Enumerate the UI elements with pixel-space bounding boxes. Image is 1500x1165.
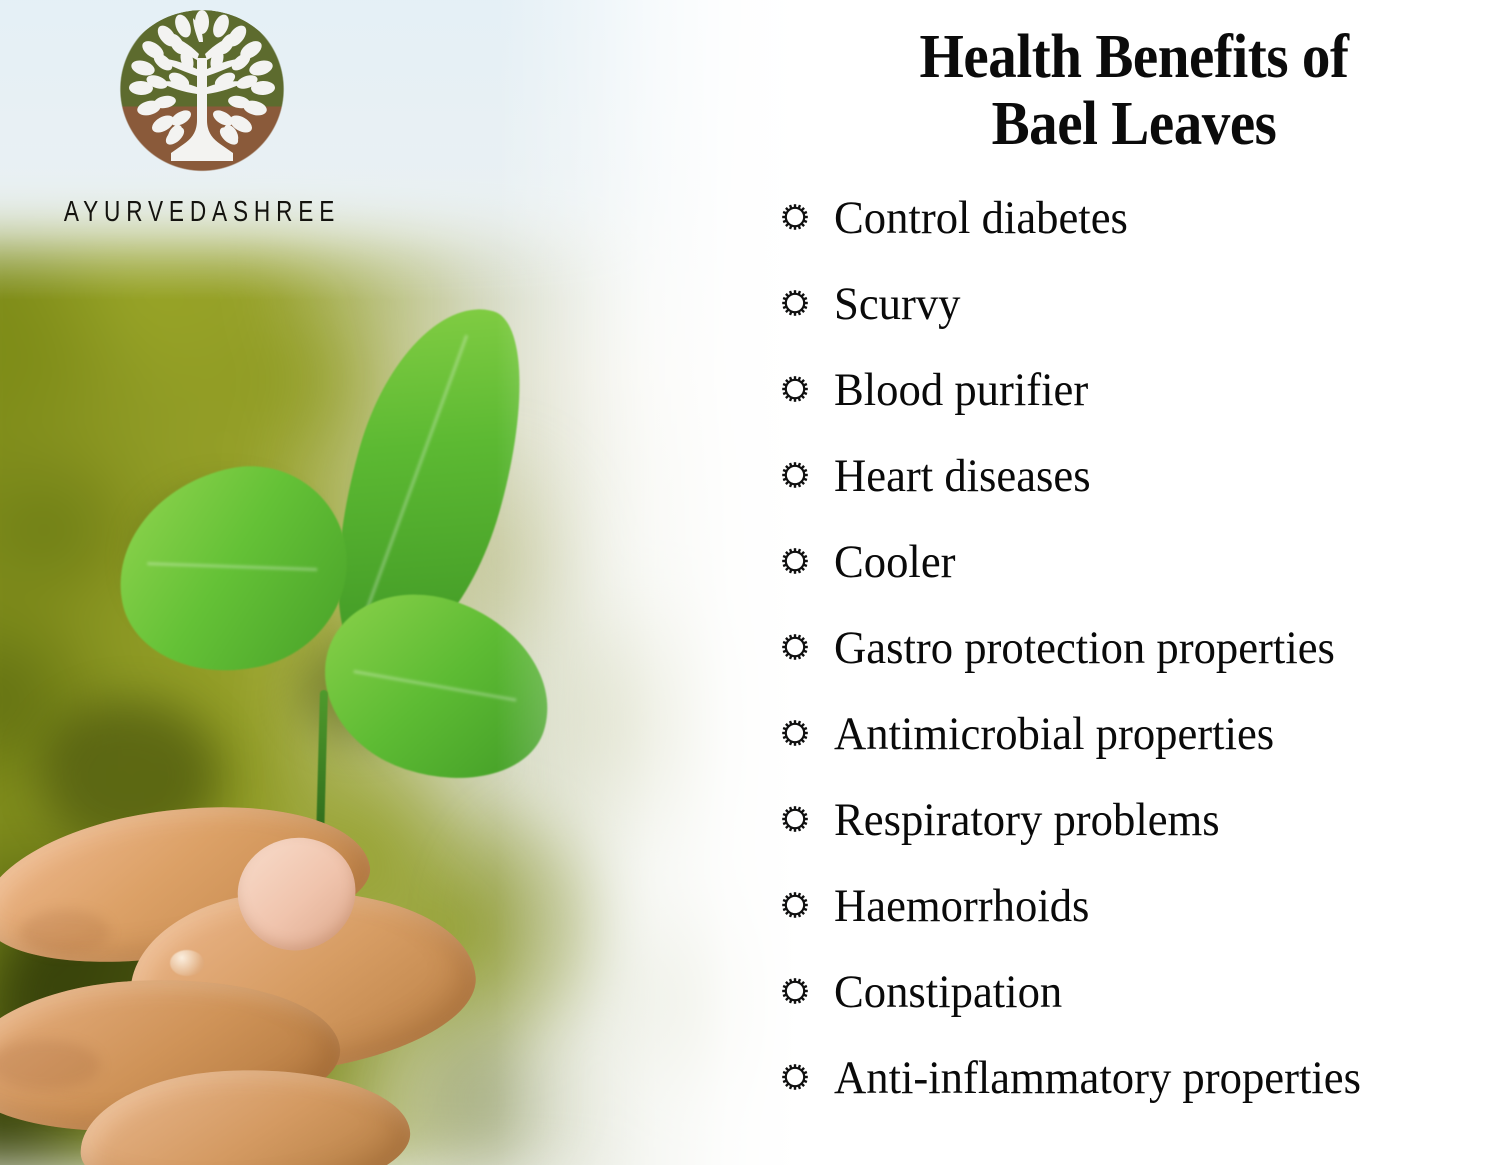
list-item-label: Gastro protection properties (834, 625, 1335, 672)
sun-circle-bullet-icon (778, 802, 812, 836)
list-item-label: Constipation (834, 969, 1062, 1016)
sun-circle-bullet-icon (778, 1060, 812, 1094)
sun-circle-bullet-icon (778, 458, 812, 492)
tree-logo-icon (113, 10, 291, 182)
list-item-label: Scurvy (834, 281, 960, 328)
benefit-item-3[interactable]: Heart diseases (778, 434, 1500, 520)
hand-holding-stem (0, 790, 520, 1165)
benefit-item-10[interactable]: Anti-inflammatory properties (778, 1036, 1500, 1122)
list-item-label: Antimicrobial properties (834, 711, 1274, 758)
list-item-label: Blood purifier (834, 367, 1088, 414)
list-item-label: Heart diseases (834, 453, 1091, 500)
benefit-item-7[interactable]: Respiratory problems (778, 778, 1500, 864)
benefits-list: Control diabetes (768, 158, 1500, 1122)
benefit-item-6[interactable]: Antimicrobial properties (778, 692, 1500, 778)
benefit-item-1[interactable]: Scurvy (778, 262, 1500, 348)
list-item-label: Control diabetes (834, 195, 1128, 242)
sun-circle-bullet-icon (778, 630, 812, 664)
benefit-item-2[interactable]: Blood purifier (778, 348, 1500, 434)
page-title-line-2: Bael Leaves (814, 91, 1454, 158)
page-title-line-1: Health Benefits of (920, 23, 1349, 91)
benefit-item-0[interactable]: Control diabetes (778, 176, 1500, 262)
health-benefits-poster: AYURVEDASHREE Health Benefits of Bael Le… (0, 0, 1500, 1165)
benefit-item-4[interactable]: Cooler (778, 520, 1500, 606)
sun-circle-bullet-icon (778, 286, 812, 320)
list-item-label: Haemorrhoids (834, 883, 1089, 930)
page-title: Health Benefits of Bael Leaves (797, 0, 1470, 158)
benefit-item-9[interactable]: Constipation (778, 950, 1500, 1036)
water-droplet (170, 950, 204, 976)
benefit-item-5[interactable]: Gastro protection properties (778, 606, 1500, 692)
content-column: Health Benefits of Bael Leaves (768, 0, 1500, 1165)
list-item-label: Cooler (834, 539, 956, 586)
brand-name: AYURVEDASHREE (62, 196, 343, 229)
sun-circle-bullet-icon (778, 716, 812, 750)
sun-circle-bullet-icon (778, 544, 812, 578)
knuckle-crease-1 (20, 910, 110, 954)
sun-circle-bullet-icon (778, 974, 812, 1008)
brand-logo[interactable]: AYURVEDASHREE (22, 10, 382, 229)
list-item-label: Anti-inflammatory properties (834, 1055, 1361, 1102)
sun-circle-bullet-icon (778, 888, 812, 922)
benefit-item-8[interactable]: Haemorrhoids (778, 864, 1500, 950)
sun-circle-bullet-icon (778, 200, 812, 234)
list-item-label: Respiratory problems (834, 797, 1220, 844)
sun-circle-bullet-icon (778, 372, 812, 406)
